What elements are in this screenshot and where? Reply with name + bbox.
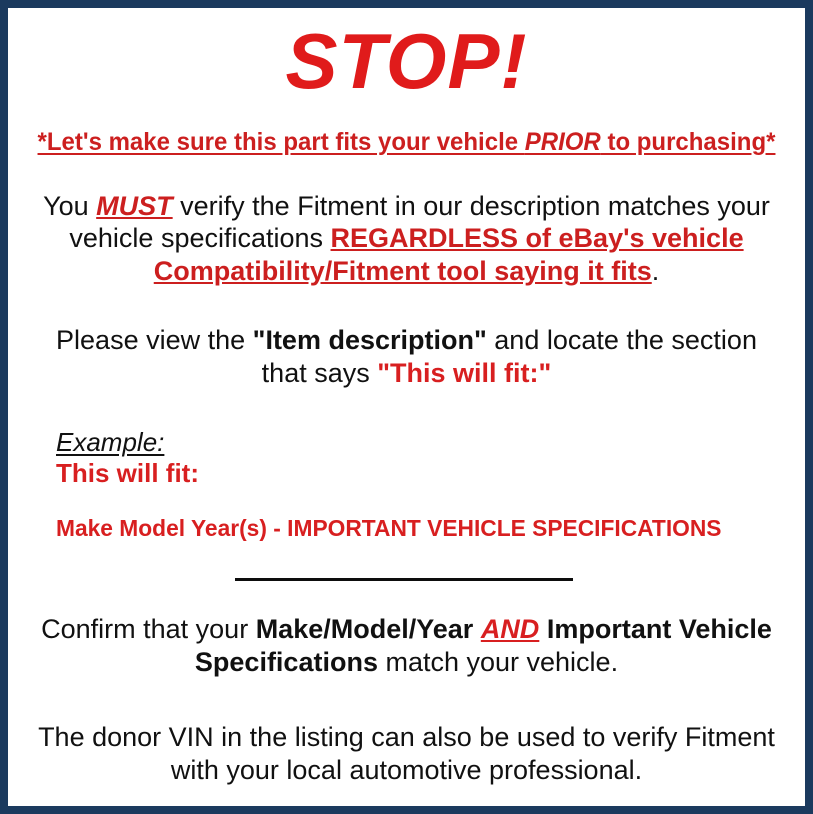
example-this-will-fit: This will fit: bbox=[56, 459, 799, 489]
subtitle-tail: to purchasing* bbox=[601, 128, 776, 156]
example-spec-line: Make Model Year(s) - IMPORTANT VEHICLE S… bbox=[56, 515, 792, 542]
example-label: Example: bbox=[56, 428, 799, 457]
this-will-fit-emphasis: "This will fit:" bbox=[377, 358, 551, 388]
horizontal-divider bbox=[235, 578, 573, 581]
divider-container bbox=[14, 568, 799, 582]
view-description-paragraph: Please view the "Item description" and l… bbox=[14, 324, 799, 390]
must-part-1: You bbox=[43, 191, 96, 221]
notice-content: STOP! *Let's make sure this part fits yo… bbox=[8, 22, 805, 814]
view-part-1: Please view the bbox=[56, 325, 253, 355]
donor-vin-paragraph: The donor VIN in the listing can also be… bbox=[14, 721, 799, 787]
must-emphasis: MUST bbox=[96, 191, 173, 221]
subtitle-lead: *Let's make sure this part fits your veh… bbox=[38, 128, 525, 156]
example-block: Example: This will fit: Make Model Year(… bbox=[14, 428, 799, 542]
subtitle-emphasis-prior: PRIOR bbox=[525, 128, 601, 156]
confirm-paragraph: Confirm that your Make/Model/Year AND Im… bbox=[14, 613, 799, 679]
fitment-notice-banner: STOP! *Let's make sure this part fits yo… bbox=[0, 0, 813, 814]
subtitle-line: *Let's make sure this part fits your veh… bbox=[30, 129, 784, 157]
item-description-emphasis: "Item description" bbox=[253, 325, 487, 355]
confirm-part-1: Confirm that your bbox=[41, 614, 256, 644]
stop-headline: STOP! bbox=[14, 22, 799, 100]
confirm-part-2: match your vehicle. bbox=[378, 647, 618, 677]
and-emphasis: AND bbox=[481, 614, 540, 644]
make-model-year-emphasis: Make/Model/Year bbox=[256, 614, 474, 644]
must-part-3: . bbox=[652, 256, 660, 286]
must-verify-paragraph: You MUST verify the Fitment in our descr… bbox=[14, 190, 799, 289]
